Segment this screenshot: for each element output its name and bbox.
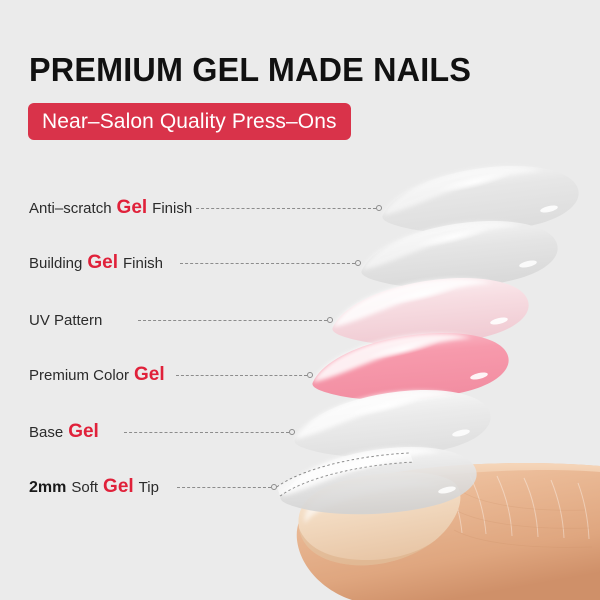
callout-word: Gel — [68, 421, 99, 443]
callout-word: Base — [29, 424, 63, 441]
callout-word: Gel — [87, 252, 118, 274]
soft-gel-tip-layer — [277, 447, 477, 514]
leader-endpoint-anti-scratch-gel-finish — [376, 205, 382, 211]
leader-line-uv-pattern — [138, 320, 327, 322]
leader-endpoint-base-gel — [289, 429, 295, 435]
leader-line-soft-gel-tip — [177, 487, 271, 489]
callout-label-base-gel: BaseGel — [0, 421, 99, 443]
callout-word: 2mm — [29, 479, 66, 497]
callout-label-building-gel-finish: BuildingGelFinish — [0, 252, 163, 274]
callout-anti-scratch-gel-finish: Anti–scratchGelFinish — [0, 196, 192, 220]
building-gel-finish-layer — [361, 221, 557, 288]
leader-endpoint-building-gel-finish — [355, 260, 361, 266]
leader-line-premium-color-gel — [176, 375, 307, 377]
leader-line-base-gel — [124, 432, 289, 434]
leader-line-building-gel-finish — [180, 263, 355, 265]
product-infographic: PREMIUM GEL MADE NAILS Near–Salon Qualit… — [0, 0, 600, 600]
callout-word: UV Pattern — [29, 312, 102, 329]
callout-building-gel-finish: BuildingGelFinish — [0, 251, 163, 275]
anti-scratch-gel-finish-layer — [382, 166, 578, 233]
callout-word: Gel — [134, 364, 165, 386]
callout-label-anti-scratch-gel-finish: Anti–scratchGelFinish — [0, 197, 192, 219]
callout-word: Soft — [71, 479, 98, 496]
callout-word: Tip — [139, 479, 159, 496]
premium-color-gel-layer — [312, 333, 508, 400]
callout-word: Finish — [123, 255, 163, 272]
subtitle-badge: Near–Salon Quality Press–Ons — [28, 103, 351, 140]
leader-endpoint-uv-pattern — [327, 317, 333, 323]
fingertip — [297, 463, 600, 600]
tip-thickness-indicator — [277, 453, 413, 496]
callout-label-soft-gel-tip: 2mmSoftGelTip — [0, 476, 159, 498]
callout-word: Premium Color — [29, 367, 129, 384]
callout-word: Building — [29, 255, 82, 272]
callout-word: Anti–scratch — [29, 200, 112, 217]
callout-word: Gel — [117, 197, 148, 219]
callout-soft-gel-tip: 2mmSoftGelTip — [0, 475, 159, 499]
callout-uv-pattern: UV Pattern — [0, 308, 102, 332]
base-gel-layer — [294, 390, 490, 457]
callout-label-premium-color-gel: Premium ColorGel — [0, 364, 165, 386]
leader-endpoint-soft-gel-tip — [271, 484, 277, 490]
nail-layer-illustration — [0, 0, 600, 600]
callout-word: Finish — [152, 200, 192, 217]
subtitle-badge-label: Near–Salon Quality Press–Ons — [42, 111, 337, 132]
callout-word: Gel — [103, 476, 134, 498]
page-title: PREMIUM GEL MADE NAILS — [29, 50, 471, 90]
callout-base-gel: BaseGel — [0, 420, 99, 444]
leader-line-anti-scratch-gel-finish — [196, 208, 376, 210]
uv-pattern-layer — [332, 278, 528, 345]
callout-label-uv-pattern: UV Pattern — [0, 312, 102, 329]
leader-endpoint-premium-color-gel — [307, 372, 313, 378]
callout-premium-color-gel: Premium ColorGel — [0, 363, 165, 387]
